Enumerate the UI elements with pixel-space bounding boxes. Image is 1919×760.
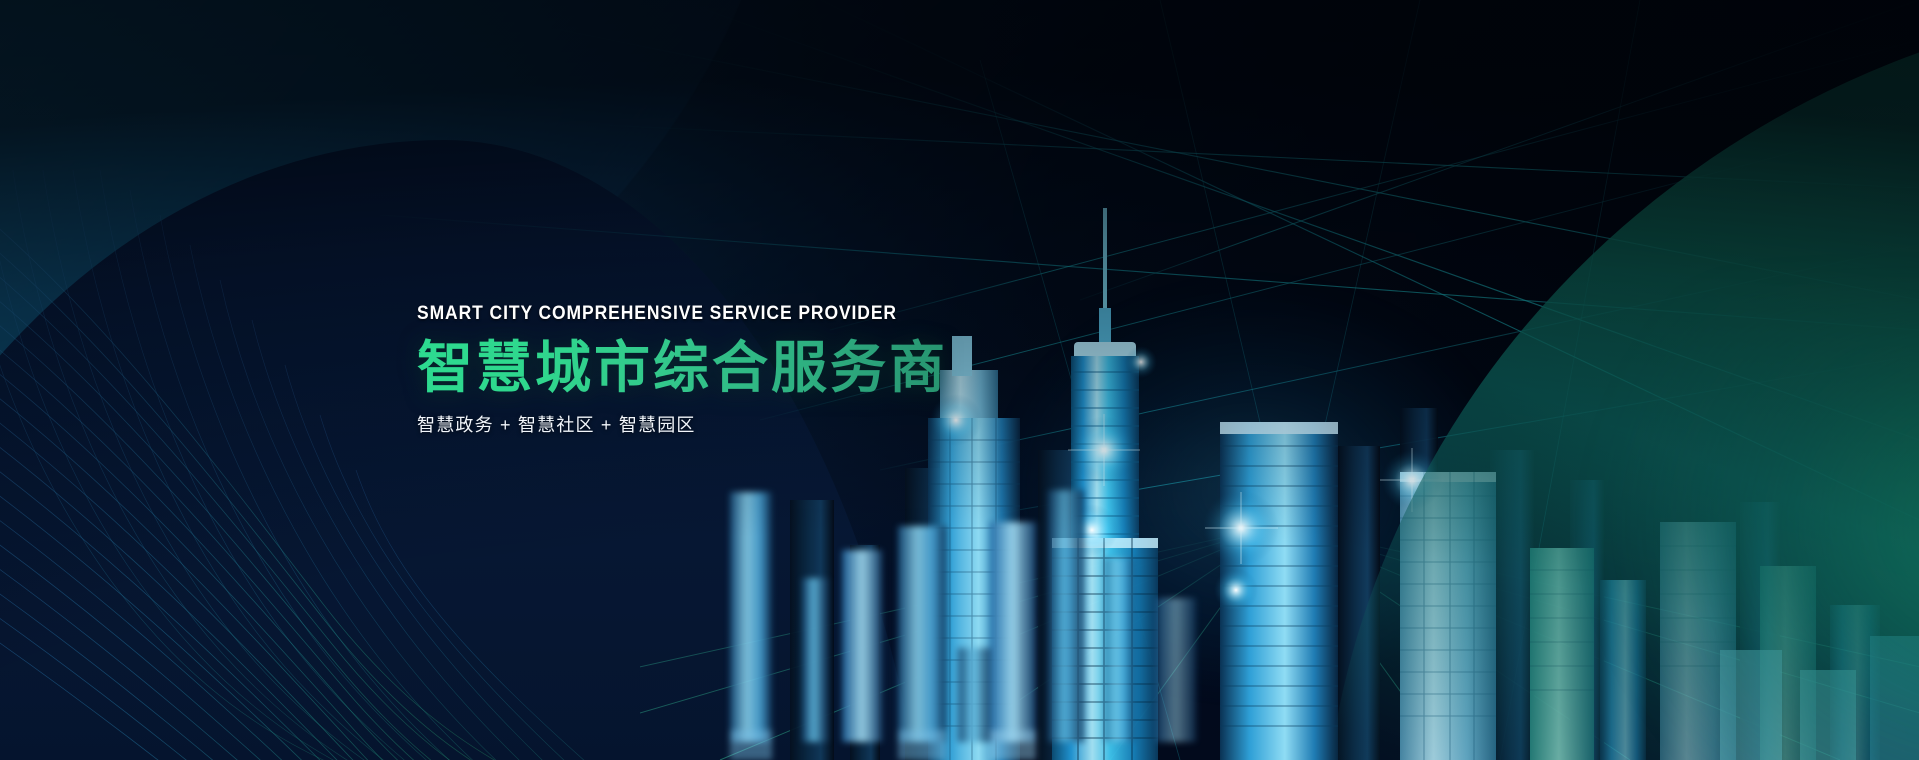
city-skyline-graphic xyxy=(700,150,1919,760)
subtitle-text: 智慧政务 + 智慧社区 + 智慧园区 xyxy=(417,416,948,434)
page-title: 智慧城市综合服务商 xyxy=(417,337,948,400)
right-green-glow xyxy=(1419,300,1919,760)
background-base-gradient xyxy=(0,0,1919,760)
perspective-ground-grid xyxy=(640,525,1919,760)
eyebrow-tagline: SMART CITY COMPREHENSIVE SERVICE PROVIDE… xyxy=(417,304,906,323)
top-left-swoosh-mask xyxy=(0,140,940,760)
background-dark-overlay xyxy=(0,0,1919,760)
right-green-curve-overlay xyxy=(1277,0,1919,760)
hero-text-block: SMART CITY COMPREHENSIVE SERVICE PROVIDE… xyxy=(417,304,948,434)
smart-city-hero-banner: SMART CITY COMPREHENSIVE SERVICE PROVIDE… xyxy=(0,0,1919,760)
top-left-teal-swoosh xyxy=(0,0,867,560)
foreground-blurred-blocks xyxy=(690,430,1250,760)
city-glow-halo xyxy=(880,230,1600,750)
light-streak-lines xyxy=(0,0,1919,760)
left-wireframe-mesh-graphic xyxy=(0,170,800,760)
bottom-vignette xyxy=(0,0,1919,760)
